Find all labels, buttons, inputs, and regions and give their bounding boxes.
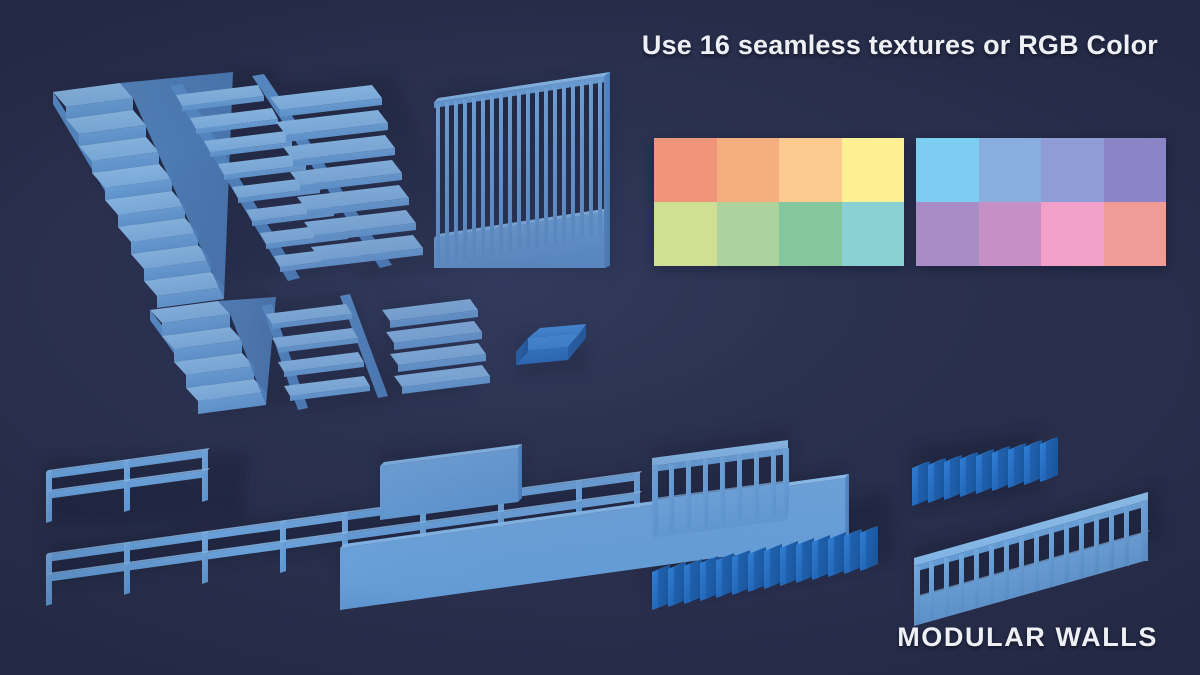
product-title: MODULAR WALLS [897,622,1158,653]
swatch-sky-blue [916,138,979,202]
swatch-salmon-pink [1104,202,1167,266]
swatch-light-orange [717,138,780,202]
swatch-orchid [979,202,1042,266]
swatch-cornflower [979,138,1042,202]
swatch-pink [1041,202,1104,266]
swatch-light-green [717,202,780,266]
swatch-salmon [654,138,717,202]
swatch-mauve [916,202,979,266]
cool-palette [916,138,1166,266]
solid-staircase-small [150,297,276,414]
3d-model-collection [0,0,1200,675]
product-showcase-canvas: Use 16 seamless textures or RGB Color MO… [0,0,1200,675]
warm-palette [654,138,904,266]
swatch-teal [842,202,905,266]
swatch-yellow-green [654,202,717,266]
swatch-pale-yellow [842,138,905,202]
swatch-peach [779,138,842,202]
swatch-periwinkle [1041,138,1104,202]
headline-text: Use 16 seamless textures or RGB Color [642,30,1158,61]
swatch-medium-green [779,202,842,266]
swatch-violet [1104,138,1167,202]
